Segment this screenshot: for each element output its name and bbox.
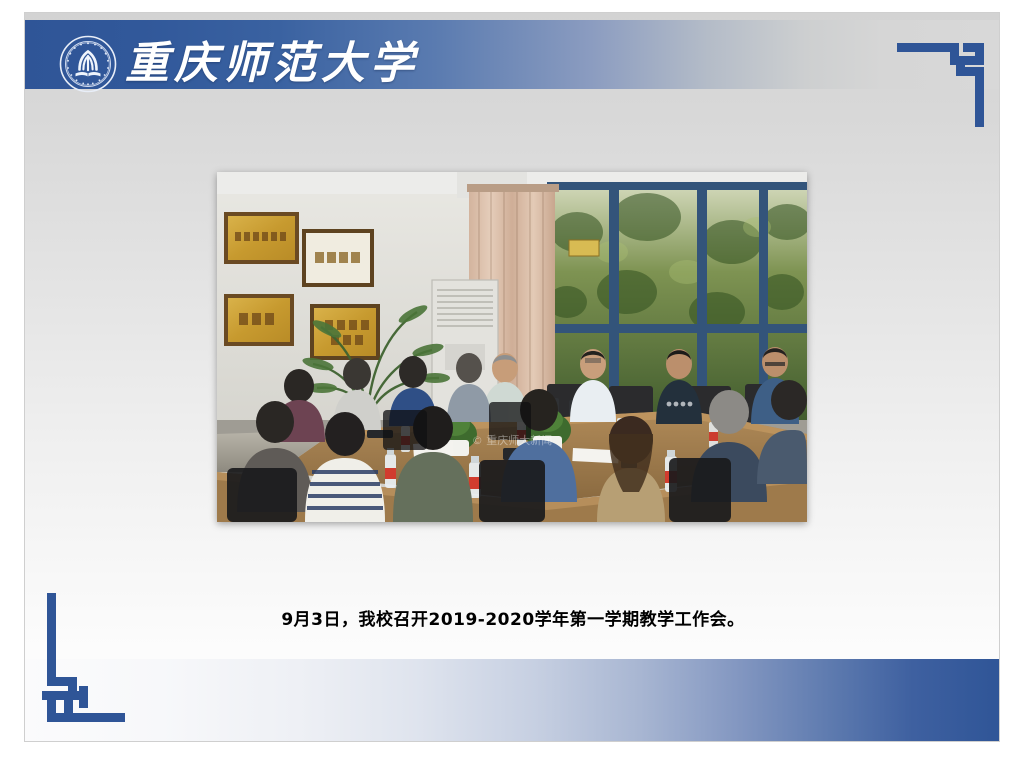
corner-ornament-top-right — [895, 31, 993, 129]
footer-gradient-bar — [25, 659, 1000, 741]
corner-ornament-bottom-left — [37, 591, 135, 733]
university-seal-icon — [59, 35, 117, 93]
svg-text:© 重庆师大新闻: © 重庆师大新闻 — [472, 433, 553, 447]
photo-caption: 9月3日，我校召开2019-2020学年第一学期教学工作会。 — [25, 605, 1000, 630]
university-name: 重庆师范大学 — [125, 33, 419, 95]
slide-canvas: 重庆师范大学 — [24, 12, 1000, 742]
meeting-photo: © 重庆师大新闻 — [217, 172, 807, 522]
